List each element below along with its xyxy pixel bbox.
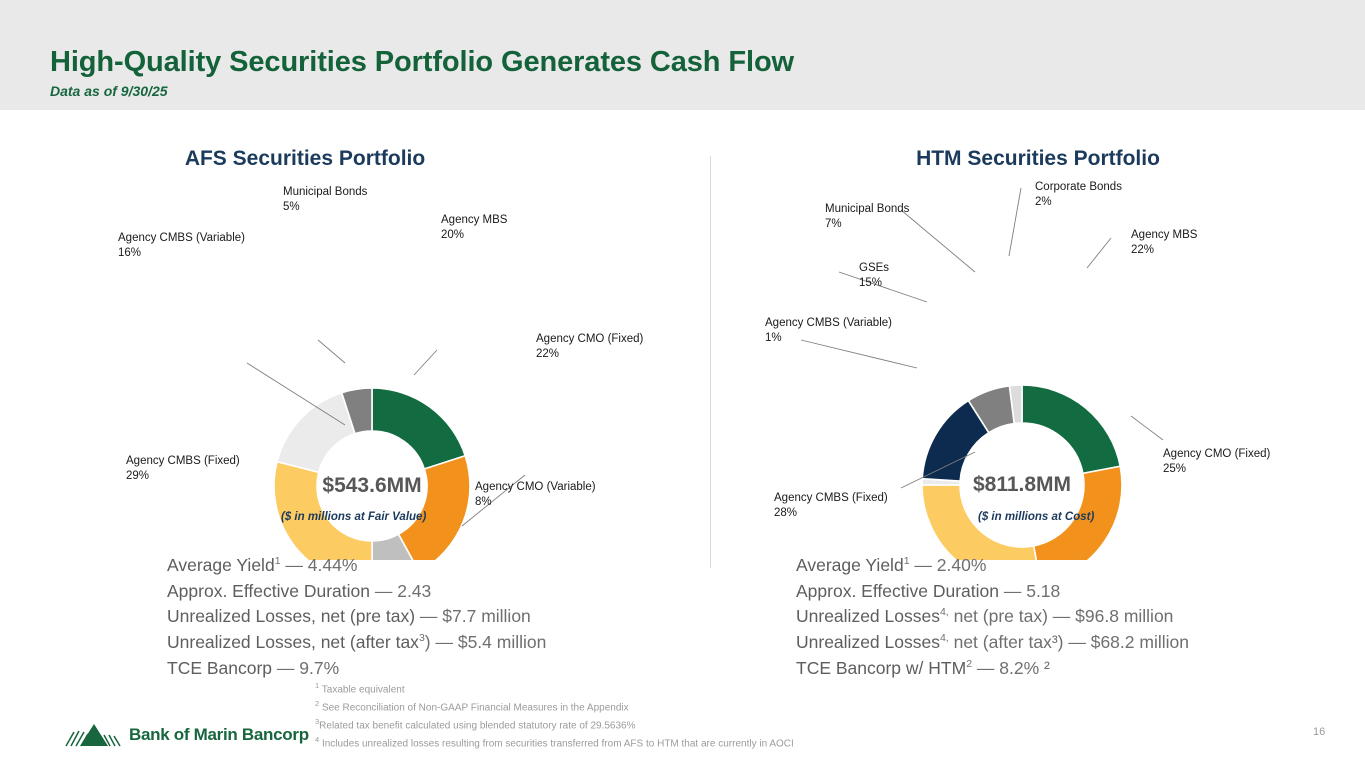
- stat-line: Average Yield1 — 4.44%: [167, 553, 546, 579]
- stat-line: Approx. Effective Duration — 5.18: [796, 579, 1189, 605]
- htm-label-agency-cmo-fixed: Agency CMO (Fixed)25%: [1163, 447, 1270, 476]
- afs-label-agency-cmo-variable: Agency CMO (Variable)8%: [475, 480, 596, 509]
- stat-line: Unrealized Losses, net (after tax3) — $5…: [167, 630, 546, 656]
- footnote-item: 3Related tax benefit calculated using bl…: [315, 716, 794, 734]
- afs-panel: AFS Securities Portfolio $543.6MM Munici…: [0, 120, 710, 560]
- htm-panel: HTM Securities Portfolio $811.8MM Corpor…: [711, 120, 1365, 560]
- htm-label-gses: GSEs15%: [859, 261, 889, 290]
- brand-logo-text: Bank of Marin Bancorp: [129, 725, 309, 745]
- htm-label-agency-cmbs-variable: Agency CMBS (Variable)1%: [765, 316, 892, 345]
- footnote-item: 4 Includes unrealized losses resulting f…: [315, 734, 794, 752]
- donut-slice: [1022, 385, 1120, 473]
- page-title: High-Quality Securities Portfolio Genera…: [50, 46, 794, 79]
- page-number: 16: [1313, 726, 1325, 738]
- htm-label-agency-mbs: Agency MBS22%: [1131, 228, 1197, 257]
- afs-label-agency-cmo-fixed: Agency CMO (Fixed)22%: [536, 332, 643, 361]
- donut-slice: [398, 456, 470, 560]
- htm-label-municipal-bonds: Municipal Bonds7%: [825, 202, 909, 231]
- page-subtitle: Data as of 9/30/25: [50, 83, 168, 99]
- afs-stats-list: Average Yield1 — 4.44%Approx. Effective …: [167, 553, 546, 682]
- afs-unit-note: ($ in millions at Fair Value): [281, 511, 426, 523]
- afs-label-municipal-bonds: Municipal Bonds5%: [283, 185, 367, 214]
- footnotes-list: 1 Taxable equivalent2 See Reconciliation…: [315, 680, 794, 753]
- donut-slice: [372, 388, 465, 469]
- afs-label-agency-cmbs-variable: Agency CMBS (Variable)16%: [118, 231, 245, 260]
- htm-center-value: $811.8MM: [973, 473, 1071, 497]
- htm-label-agency-cmbs-fixed: Agency CMBS (Fixed)28%: [774, 491, 888, 520]
- afs-label-agency-cmbs-fixed: Agency CMBS (Fixed)29%: [126, 454, 240, 483]
- stat-line: TCE Bancorp — 9.7%: [167, 656, 546, 682]
- afs-label-agency-mbs: Agency MBS20%: [441, 213, 507, 242]
- stat-line: Unrealized Losses, net (pre tax) — $7.7 …: [167, 604, 546, 630]
- afs-center-value: $543.6MM: [322, 474, 421, 498]
- donut-slice: [277, 393, 355, 473]
- brand-logo: Bank of Marin Bancorp: [64, 722, 309, 748]
- stat-line: Approx. Effective Duration — 2.43: [167, 579, 546, 605]
- htm-stats-list: Average Yield1 — 2.40%Approx. Effective …: [796, 553, 1189, 682]
- footnote-item: 2 See Reconciliation of Non-GAAP Financi…: [315, 698, 794, 716]
- stat-line: Average Yield1 — 2.40%: [796, 553, 1189, 579]
- stat-line: Unrealized Losses4, net (after tax³) — $…: [796, 630, 1189, 656]
- htm-unit-note: ($ in millions at Cost): [978, 511, 1094, 523]
- stat-line: TCE Bancorp w/ HTM2 — 8.2% ²: [796, 656, 1189, 682]
- mountain-logo-icon: [64, 722, 122, 748]
- stat-line: Unrealized Losses4, net (pre tax) — $96.…: [796, 604, 1189, 630]
- footnote-item: 1 Taxable equivalent: [315, 680, 794, 698]
- htm-label-corporate-bonds: Corporate Bonds2%: [1035, 180, 1122, 209]
